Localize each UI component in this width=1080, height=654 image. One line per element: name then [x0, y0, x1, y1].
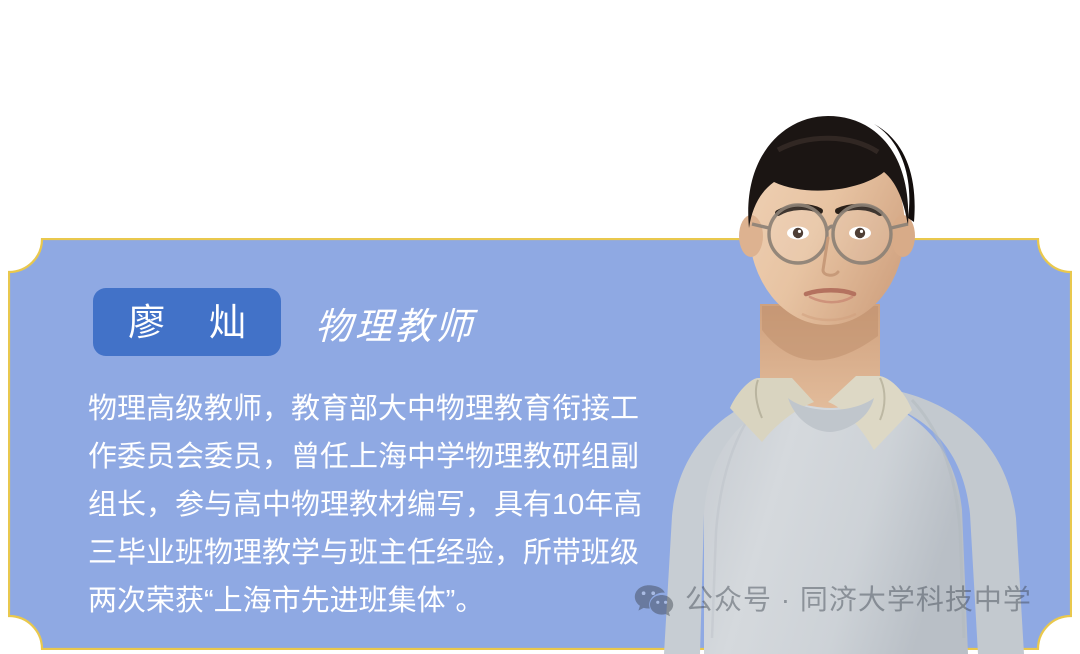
hair — [748, 116, 908, 228]
bio-line: 三毕业班物理教学与班主任经验，所带班级 — [88, 529, 648, 577]
teacher-role-title: 物理教师 — [314, 303, 476, 351]
bio-line: 两次荣获“上海市先进班集体”。 — [88, 577, 648, 625]
bio-line: 物理高级教师，教育部大中物理教育衔接工 — [88, 385, 648, 433]
bio-line: 作委员会委员，曾任上海中学物理教研组副 — [88, 433, 648, 481]
teacher-bio: 物理高级教师，教育部大中物理教育衔接工 作委员会委员，曾任上海中学物理教研组副 … — [88, 385, 648, 625]
bio-line: 组长，参与高中物理教材编写，具有10年高 — [88, 481, 648, 529]
teacher-profile-card: 廖 灿 物理教师 物理高级教师，教育部大中物理教育衔接工 作委员会委员，曾任上海… — [0, 0, 1080, 654]
watermark-text: 公众号 · 同济大学科技中学 — [685, 586, 1032, 614]
teacher-name-badge: 廖 灿 — [93, 288, 281, 356]
wechat-icon — [634, 583, 674, 617]
wechat-watermark: 公众号 · 同济大学科技中学 — [634, 583, 1032, 617]
teacher-name: 廖 灿 — [112, 304, 262, 341]
